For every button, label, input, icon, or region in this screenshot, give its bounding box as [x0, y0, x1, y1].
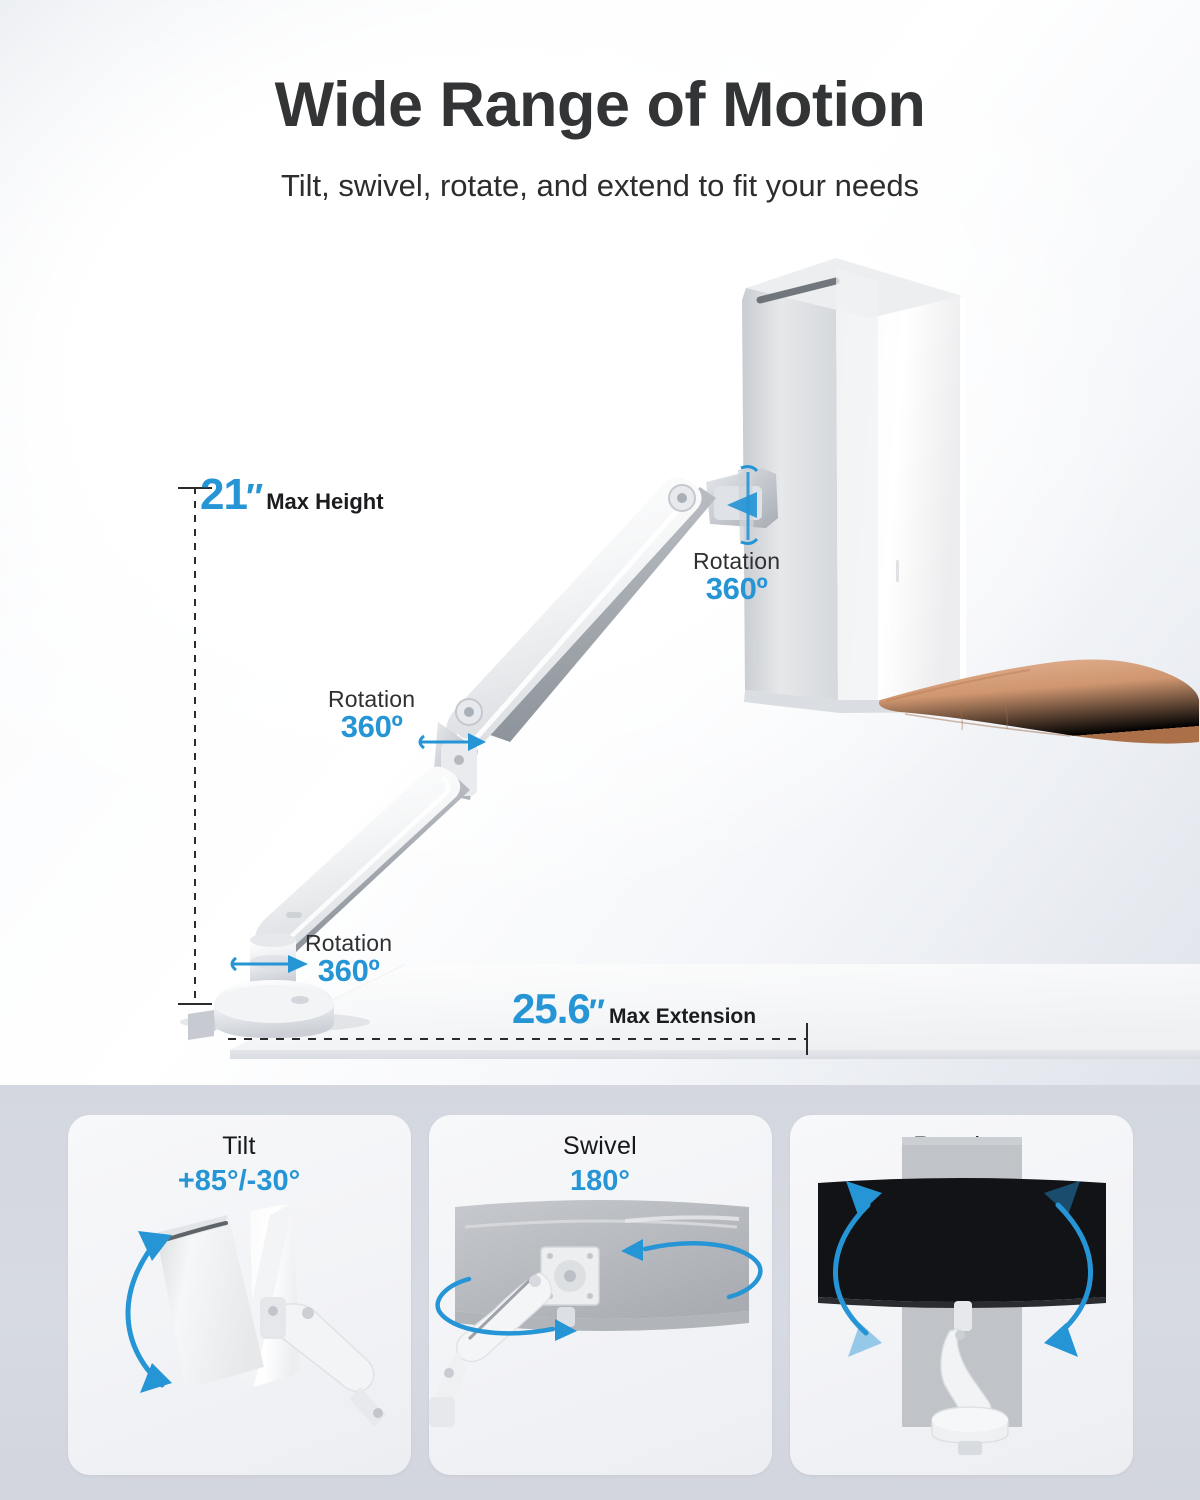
infographic-page: Wide Range of Motion Tilt, swivel, rotat… — [0, 0, 1200, 1500]
swivel-illustration — [429, 1115, 772, 1475]
callout-caption: Rotation — [328, 688, 415, 711]
max-extension-text: Max Extension — [609, 1005, 756, 1029]
upper-arm — [446, 478, 716, 748]
extension-dashed-line — [228, 1038, 808, 1040]
callout-value: 360º — [693, 573, 780, 605]
max-extension-unit: ″ — [589, 993, 605, 1032]
callout-value: 360º — [328, 711, 415, 743]
max-height-text: Max Height — [266, 489, 383, 515]
height-dashed-line — [194, 487, 196, 1004]
monitor-arm-illustration — [0, 0, 1200, 1085]
extension-tick-right — [806, 1023, 808, 1055]
height-tick-bottom — [178, 1003, 212, 1005]
monitor — [742, 258, 966, 713]
feature-cards: Tilt +85°/-30° — [0, 1085, 1200, 1500]
callout-value: 360º — [305, 955, 392, 987]
callout-rotation-arm-elbow: Rotation 360º — [328, 688, 415, 743]
page-title: Wide Range of Motion — [0, 74, 1200, 137]
panel-tilt: Tilt +85°/-30° — [68, 1115, 411, 1475]
elbow-joint — [420, 722, 486, 800]
callout-caption: Rotation — [305, 932, 392, 955]
max-height-label: 21 ″ Max Height — [200, 470, 384, 520]
callout-caption: Rotation — [693, 550, 780, 573]
max-height-unit: ″ — [246, 476, 263, 518]
max-extension-value: 25.6 — [512, 985, 590, 1033]
callout-rotation-monitor-head: Rotation 360º — [693, 550, 780, 605]
supporting-hand — [879, 659, 1199, 743]
callout-rotation-base-post: Rotation 360º — [305, 932, 392, 987]
panel-swivel: Swivel 180° — [429, 1115, 772, 1475]
vesa-head-joint — [706, 466, 778, 544]
max-height-value: 21 — [200, 470, 247, 520]
feature-panels-strip: Tilt +85°/-30° — [0, 1085, 1200, 1500]
rotation-illustration — [790, 1115, 1133, 1475]
panel-rotation: Rotation 360° — [790, 1115, 1133, 1475]
max-extension-label: 25.6 ″ Max Extension — [512, 985, 756, 1033]
tilt-illustration — [68, 1115, 411, 1475]
lower-arm — [255, 767, 470, 957]
hero-section: Wide Range of Motion Tilt, swivel, rotat… — [0, 0, 1200, 1085]
page-subtitle: Tilt, swivel, rotate, and extend to fit … — [0, 168, 1200, 204]
